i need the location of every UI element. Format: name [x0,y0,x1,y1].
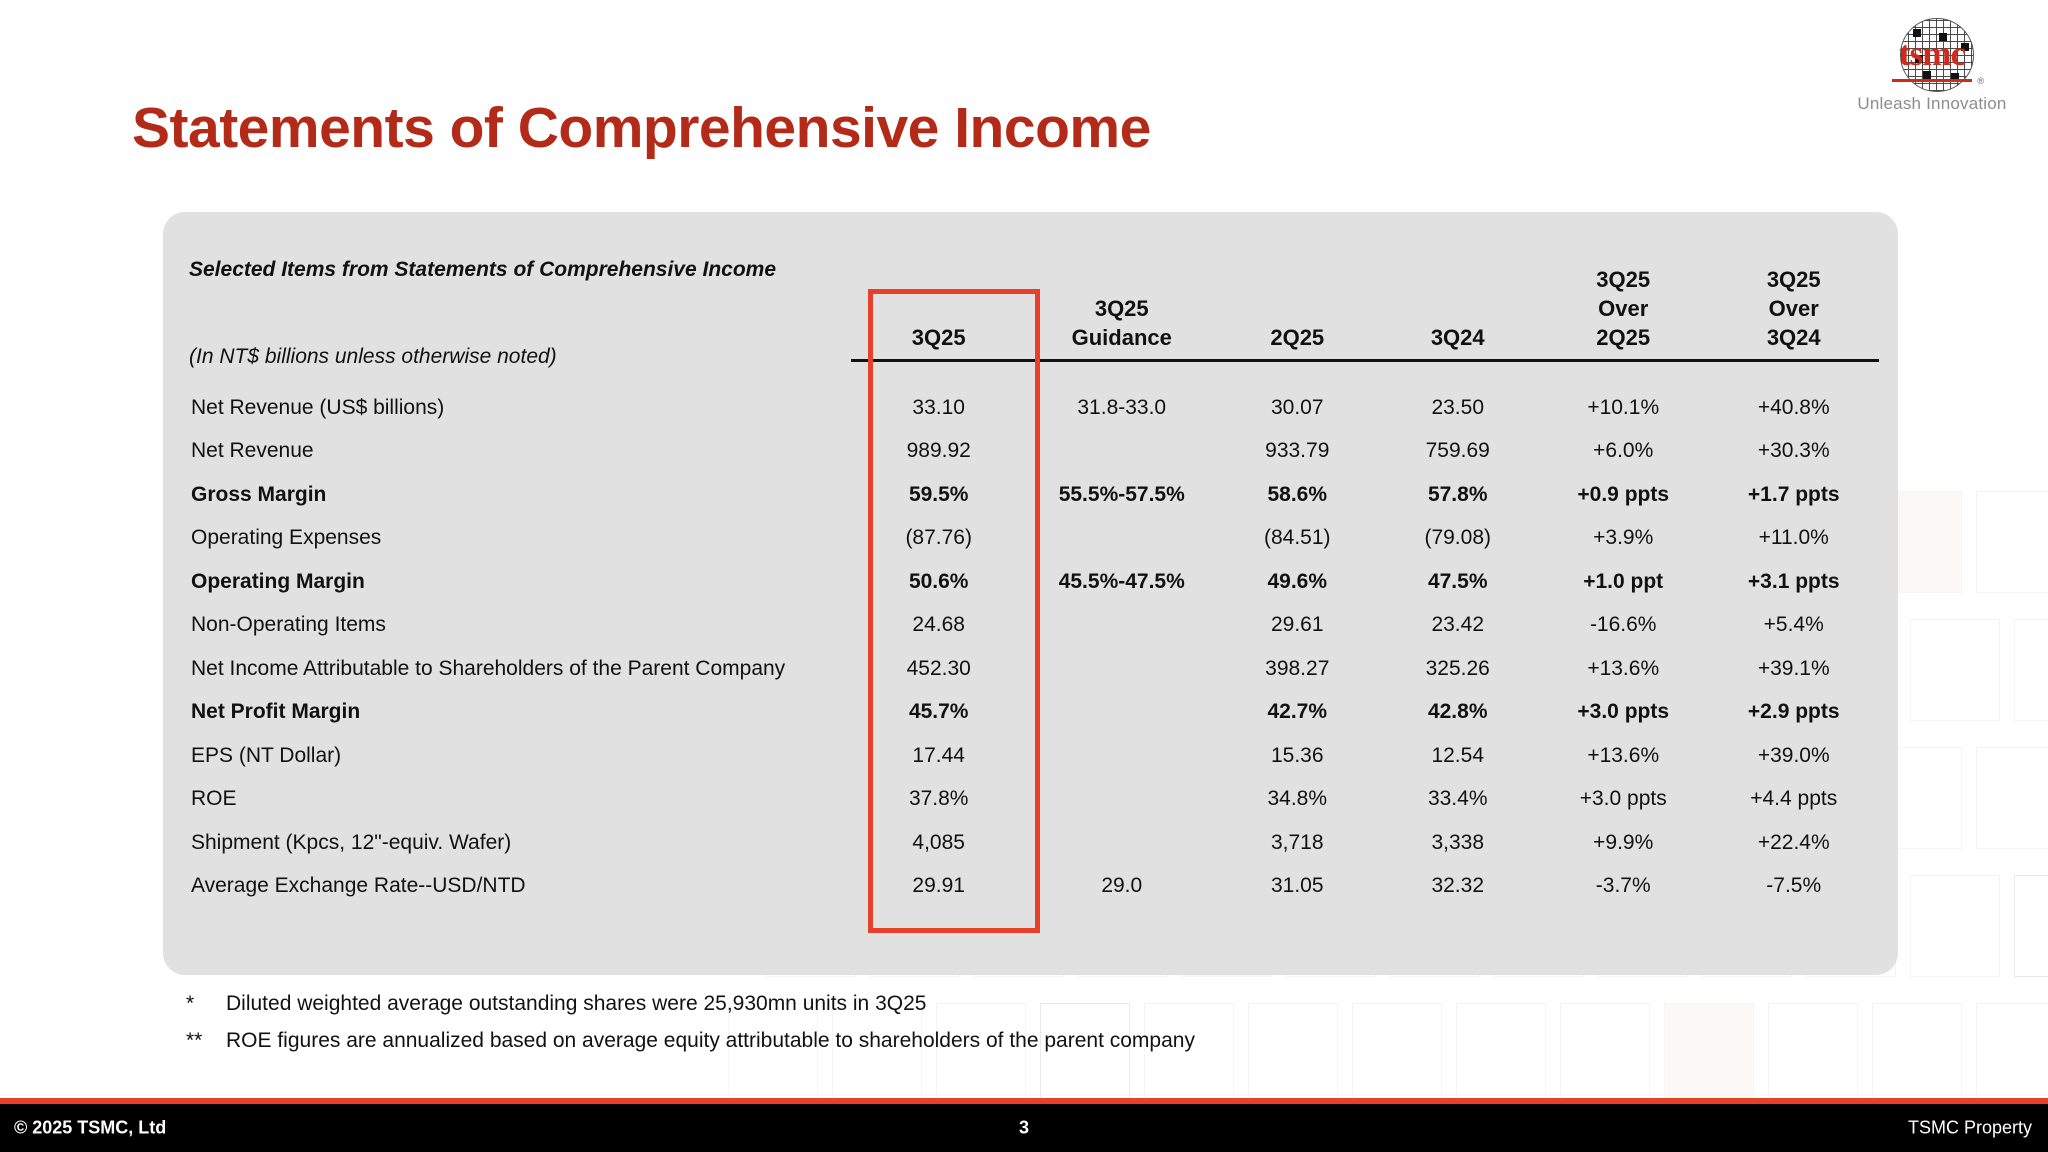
row-label: Net Profit Margin [189,691,851,735]
cell-q3_25_guidance [1026,691,1217,735]
table-row: Net Revenue (US$ billions)33.1031.8-33.0… [189,386,1879,430]
registered-trademark-icon: ® [1977,76,1984,86]
logo-underline [1892,79,1972,82]
watermark-cell [2014,619,2048,721]
spacer-cell [1217,361,1377,387]
cell-q3_25: (87.76) [851,517,1027,561]
cell-q3_24: 325.26 [1378,647,1538,691]
table-row: Average Exchange Rate--USD/NTD29.9129.03… [189,865,1879,909]
footnote-row: **ROE figures are annualized based on av… [186,1029,1195,1053]
cell-q3_25: 29.91 [851,865,1027,909]
column-header-line: 3Q25 [1708,265,1879,294]
table-row: Operating Expenses(87.76) (84.51)(79.08)… [189,517,1879,561]
cell-q3_25: 45.7% [851,691,1027,735]
column-header-q3_24: 3Q24 [1378,232,1538,361]
table-row: Shipment (Kpcs, 12"-equiv. Wafer)4,085 3… [189,821,1879,865]
cell-q3_24: 33.4% [1378,778,1538,822]
cell-q2_25: 29.61 [1217,604,1377,648]
table-row: Net Revenue989.92 933.79759.69+6.0%+30.3… [189,430,1879,474]
slide-canvas: tsmc ® Unleash Innovation Statements of … [0,0,2048,1152]
column-header-q3_25: 3Q25 [851,232,1027,361]
row-label: Net Revenue [189,430,851,474]
cell-q3_25: 59.5% [851,473,1027,517]
cell-q2_25: 933.79 [1217,430,1377,474]
column-header-line: 3Q25 [1538,265,1709,294]
cell-over_2q25: +6.0% [1538,430,1709,474]
cell-q2_25: 31.05 [1217,865,1377,909]
cell-q3_24: 42.8% [1378,691,1538,735]
cell-over_2q25: +1.0 ppt [1538,560,1709,604]
cell-q2_25: 398.27 [1217,647,1377,691]
row-label: Average Exchange Rate--USD/NTD [189,865,851,909]
cell-q2_25: 30.07 [1217,386,1377,430]
cell-over_3q24: +1.7 ppts [1708,473,1879,517]
cell-q3_25_guidance [1026,517,1217,561]
cell-over_3q24: +40.8% [1708,386,1879,430]
cell-over_2q25: +3.9% [1538,517,1709,561]
cell-over_2q25: +13.6% [1538,734,1709,778]
cell-q3_25: 452.30 [851,647,1027,691]
watermark-cell [1768,1003,1858,1105]
spacer-cell [851,361,1027,387]
cell-q3_25: 37.8% [851,778,1027,822]
row-label: Operating Expenses [189,517,851,561]
column-header-line: Guidance [1026,323,1217,352]
footnotes: *Diluted weighted average outstanding sh… [186,992,1195,1066]
column-header-over_3q24: 3Q25Over3Q24 [1708,232,1879,361]
cell-q3_24: 32.32 [1378,865,1538,909]
footnote-row: *Diluted weighted average outstanding sh… [186,992,1195,1016]
cell-q2_25: 49.6% [1217,560,1377,604]
cell-q3_24: 47.5% [1378,560,1538,604]
row-label: Net Income Attributable to Shareholders … [189,647,851,691]
row-label: Operating Margin [189,560,851,604]
cell-q3_24: 57.8% [1378,473,1538,517]
cell-over_2q25: -3.7% [1538,865,1709,909]
row-label: Net Revenue (US$ billions) [189,386,851,430]
column-header-line: 3Q24 [1708,323,1879,352]
cell-over_3q24: +3.1 ppts [1708,560,1879,604]
cell-over_3q24: +4.4 ppts [1708,778,1879,822]
cell-q2_25: 58.6% [1217,473,1377,517]
footer-bar: © 2025 TSMC, Ltd 3 TSMC Property [0,1104,2048,1152]
financials-table: 3Q253Q25Guidance2Q253Q243Q25Over2Q253Q25… [189,232,1879,908]
cell-q3_25_guidance: 45.5%-47.5% [1026,560,1217,604]
watermark-cell [1976,491,2048,593]
column-header-q3_25_guidance: 3Q25Guidance [1026,232,1217,361]
spacer-cell [1026,361,1217,387]
column-header-line: Over [1538,294,1709,323]
watermark-cell [1910,875,2000,977]
cell-over_2q25: +10.1% [1538,386,1709,430]
cell-q3_25: 4,085 [851,821,1027,865]
watermark-cell [1456,1003,1546,1105]
column-header-line: 2Q25 [1538,323,1709,352]
cell-q3_25_guidance: 29.0 [1026,865,1217,909]
cell-over_2q25: +0.9 ppts [1538,473,1709,517]
tsmc-logo: tsmc ® Unleash Innovation [1842,18,2022,114]
table-row: Net Income Attributable to Shareholders … [189,647,1879,691]
cell-over_3q24: -7.5% [1708,865,1879,909]
content-panel: Selected Items from Statements of Compre… [163,212,1898,975]
cell-q3_25_guidance [1026,647,1217,691]
cell-q3_24: 23.50 [1378,386,1538,430]
cell-over_2q25: +3.0 ppts [1538,691,1709,735]
cell-q3_25: 24.68 [851,604,1027,648]
watermark-cell [2014,875,2048,977]
footer-page-number: 3 [0,1118,2048,1139]
column-header-label [189,232,851,361]
column-header-line: 3Q25 [851,323,1027,352]
row-label: Non-Operating Items [189,604,851,648]
cell-q3_24: 23.42 [1378,604,1538,648]
cell-q3_25_guidance: 55.5%-57.5% [1026,473,1217,517]
watermark-cell [1976,1003,2048,1105]
cell-q3_24: 3,338 [1378,821,1538,865]
cell-over_3q24: +39.1% [1708,647,1879,691]
cell-q3_25_guidance [1026,734,1217,778]
column-header-line: 3Q25 [1026,294,1217,323]
cell-q3_25_guidance [1026,430,1217,474]
column-header-line: Over [1708,294,1879,323]
table-row: Gross Margin59.5%55.5%-57.5%58.6%57.8%+0… [189,473,1879,517]
footnote-text: Diluted weighted average outstanding sha… [226,992,926,1016]
cell-q2_25: 15.36 [1217,734,1377,778]
footer-property-label: TSMC Property [1908,1118,2032,1139]
cell-q3_24: (79.08) [1378,517,1538,561]
cell-over_3q24: +11.0% [1708,517,1879,561]
table-row: Non-Operating Items24.68 29.6123.42-16.6… [189,604,1879,648]
logo-wordmark: tsmc [1882,36,1982,71]
cell-q3_25: 33.10 [851,386,1027,430]
row-label: Shipment (Kpcs, 12"-equiv. Wafer) [189,821,851,865]
watermark-cell [1976,747,2048,849]
spacer-cell [1708,361,1879,387]
logo-mark: tsmc ® [1882,18,1982,92]
cell-over_3q24: +2.9 ppts [1708,691,1879,735]
table-spacer-row [189,361,1879,387]
watermark-cell [1560,1003,1650,1105]
cell-over_2q25: -16.6% [1538,604,1709,648]
cell-q3_25_guidance [1026,821,1217,865]
footnote-text: ROE figures are annualized based on aver… [226,1029,1195,1053]
cell-over_3q24: +39.0% [1708,734,1879,778]
cell-q3_25: 17.44 [851,734,1027,778]
table-row: EPS (NT Dollar)17.44 15.3612.54+13.6%+39… [189,734,1879,778]
watermark-cell [1352,1003,1442,1105]
table-row: ROE37.8% 34.8%33.4%+3.0 ppts+4.4 ppts [189,778,1879,822]
spacer-cell [189,361,851,387]
cell-over_3q24: +30.3% [1708,430,1879,474]
spacer-cell [1538,361,1709,387]
cell-q3_25_guidance: 31.8-33.0 [1026,386,1217,430]
cell-q2_25: 34.8% [1217,778,1377,822]
cell-over_3q24: +5.4% [1708,604,1879,648]
cell-over_3q24: +22.4% [1708,821,1879,865]
cell-q3_25_guidance [1026,778,1217,822]
cell-q3_25_guidance [1026,604,1217,648]
row-label: Gross Margin [189,473,851,517]
column-header-q2_25: 2Q25 [1217,232,1377,361]
cell-over_2q25: +3.0 ppts [1538,778,1709,822]
watermark-cell [1248,1003,1338,1105]
watermark-cell [1910,619,2000,721]
table-row: Operating Margin50.6%45.5%-47.5%49.6%47.… [189,560,1879,604]
page-title: Statements of Comprehensive Income [132,95,1151,161]
logo-tagline: Unleash Innovation [1842,94,2022,114]
footnote-marker: * [186,992,226,1016]
row-label: EPS (NT Dollar) [189,734,851,778]
watermark-cell [1664,1003,1754,1105]
watermark-cell [1872,1003,1962,1105]
cell-q2_25: 3,718 [1217,821,1377,865]
cell-q3_25: 989.92 [851,430,1027,474]
row-label: ROE [189,778,851,822]
cell-q2_25: 42.7% [1217,691,1377,735]
footnote-marker: ** [186,1029,226,1053]
cell-over_2q25: +13.6% [1538,647,1709,691]
spacer-cell [1378,361,1538,387]
column-header-line: 3Q24 [1378,323,1538,352]
cell-q3_25: 50.6% [851,560,1027,604]
cell-over_2q25: +9.9% [1538,821,1709,865]
column-header-over_2q25: 3Q25Over2Q25 [1538,232,1709,361]
column-header-line: 2Q25 [1217,323,1377,352]
table-header-row: 3Q253Q25Guidance2Q253Q243Q25Over2Q253Q25… [189,232,1879,361]
table-row: Net Profit Margin45.7% 42.7%42.8%+3.0 pp… [189,691,1879,735]
cell-q3_24: 12.54 [1378,734,1538,778]
cell-q2_25: (84.51) [1217,517,1377,561]
cell-q3_24: 759.69 [1378,430,1538,474]
